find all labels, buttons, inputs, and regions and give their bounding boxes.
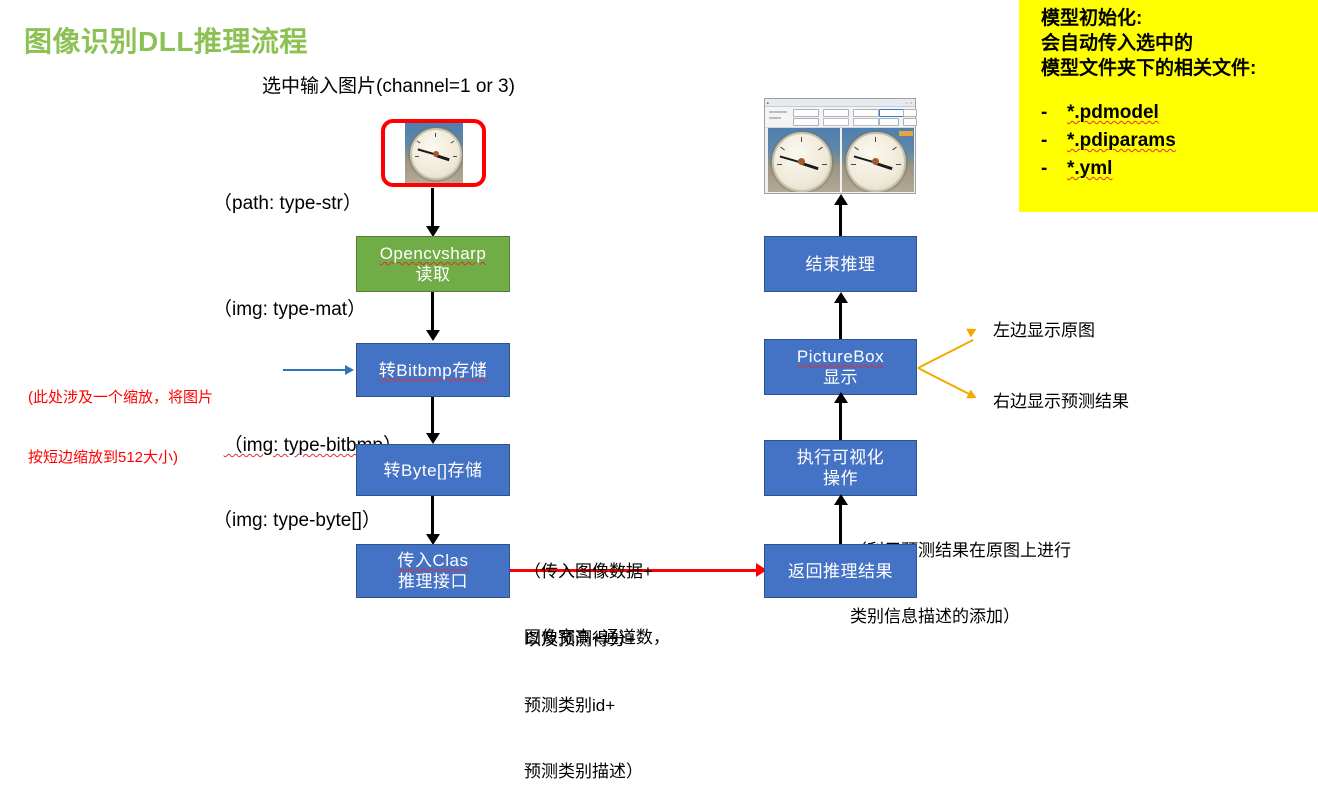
node-visualize-line1: 执行可视化 <box>797 447 885 468</box>
bullet-dash: - <box>1041 99 1067 127</box>
window-controls: - □ × <box>902 101 913 105</box>
arrowhead-down <box>426 433 440 444</box>
connector-bytearray-to-clas <box>431 496 434 538</box>
model-file-pdmodel: *.pdmodel <box>1067 99 1159 127</box>
branch-line-bottom <box>918 367 974 397</box>
list-item: - *.pdiparams <box>1041 127 1318 155</box>
original-image-pane <box>768 128 840 192</box>
node-end-inference[interactable]: 结束推理 <box>764 236 917 292</box>
connector-bitmap-to-bytearray <box>431 397 434 437</box>
edge-label-img-type-mat: （img: type-mat） <box>213 298 366 322</box>
node-picturebox-display[interactable]: PictureBox 显示 <box>764 339 917 395</box>
app-toolbar <box>765 107 915 128</box>
model-file-list: - *.pdmodel - *.pdiparams - *.yml <box>1041 99 1318 183</box>
page-title: 图像识别DLL推理流程 <box>24 20 308 60</box>
node-picturebox-line2: 显示 <box>797 367 884 388</box>
node-opencvsharp-line1: Opencvsharp <box>380 243 487 264</box>
scale-note: (此处涉及一个缩放，将图片 按短边缩放到512大小) <box>28 348 213 488</box>
result-app-window-screenshot: ■ - □ × <box>764 98 916 194</box>
node-clas-line2: 推理接口 <box>397 571 468 592</box>
scale-note-line-1: (此处涉及一个缩放，将图片 <box>28 388 213 408</box>
list-item: - *.pdmodel <box>1041 99 1318 127</box>
app-titlebar: ■ - □ × <box>765 99 915 107</box>
node-visualize-line2: 操作 <box>797 468 885 489</box>
branch-label-prediction: 右边显示预测结果 <box>993 391 1129 413</box>
node-to-bitmap[interactable]: 转Bitbmp存储 <box>356 343 510 397</box>
api-note-line-5: 预测类别描述） <box>524 761 643 783</box>
node-return-result-label: 返回推理结果 <box>788 561 893 582</box>
node-picturebox-line1: PictureBox <box>797 346 884 367</box>
input-image-thumbnail <box>381 119 486 187</box>
node-return-result[interactable]: 返回推理结果 <box>764 544 917 598</box>
api-note-lower: 以及预测得分+ 预测类别id+ 预测类别描述） <box>524 585 643 805</box>
arrowhead-up <box>834 292 848 303</box>
connector-opencvsharp-to-bitmap <box>431 292 434 332</box>
node-end-inference-label: 结束推理 <box>806 254 876 275</box>
api-note-line-3: 以及预测得分+ <box>524 629 643 651</box>
model-init-heading-line-3: 模型文件夹下的相关文件: <box>1041 56 1318 81</box>
api-note-line-1: （传入图像数据+ <box>524 561 670 583</box>
node-visualize[interactable]: 执行可视化 操作 <box>764 440 917 496</box>
api-note-line-4: 预测类别id+ <box>524 695 643 717</box>
node-clas-inference-api[interactable]: 传入Clas 推理接口 <box>356 544 510 598</box>
connector-visualize-to-picturebox <box>839 400 842 440</box>
model-file-yml: *.yml <box>1067 155 1112 183</box>
arrowhead-right <box>966 325 979 338</box>
connector-endinfer-to-app <box>839 205 842 237</box>
node-clas-line1: 传入Clas <box>397 550 468 571</box>
node-to-bytearray[interactable]: 转Byte[]存储 <box>356 444 510 496</box>
predicted-image-pane <box>842 128 914 192</box>
connector-input-to-opencvsharp <box>431 188 434 228</box>
connector-scale-note <box>283 369 345 371</box>
node-to-bitmap-label: 转Bitbmp存储 <box>379 360 487 381</box>
bullet-dash: - <box>1041 155 1067 183</box>
visualize-note-line-2: 类别信息描述的添加） <box>850 606 1071 628</box>
list-item: - *.yml <box>1041 155 1318 183</box>
arrowhead-down <box>426 330 440 341</box>
app-window-title: ■ <box>767 101 769 105</box>
arrowhead-up <box>834 194 848 205</box>
node-to-bytearray-label: 转Byte[]存储 <box>384 460 483 481</box>
node-opencvsharp-line2: 读取 <box>380 264 487 285</box>
branch-line-top <box>918 339 974 369</box>
connector-return-to-visualize <box>839 502 842 544</box>
branch-label-original: 左边显示原图 <box>993 320 1095 342</box>
model-init-callout: 模型初始化: 会自动传入选中的 模型文件夹下的相关文件: - *.pdmodel… <box>1019 0 1318 212</box>
app-image-canvas <box>768 128 914 192</box>
input-image-caption: 选中输入图片(channel=1 or 3) <box>262 75 515 99</box>
edge-label-img-type-bytearray: （img: type-byte[]） <box>213 509 381 533</box>
arrowhead-up <box>834 494 848 505</box>
model-file-pdiparams: *.pdiparams <box>1067 127 1176 155</box>
arrowhead-right <box>345 365 354 375</box>
model-init-heading-line-2: 会自动传入选中的 <box>1041 31 1318 56</box>
connector-picturebox-to-endinfer <box>839 300 842 340</box>
edge-label-path-type-str: （path: type-str） <box>213 192 362 216</box>
model-init-heading-line-1: 模型初始化: <box>1041 6 1318 31</box>
bullet-dash: - <box>1041 127 1067 155</box>
arrowhead-up <box>834 392 848 403</box>
node-opencvsharp-read[interactable]: Opencvsharp 读取 <box>356 236 510 292</box>
gauge-photo <box>405 123 463 183</box>
scale-note-line-2: 按短边缩放到512大小) <box>28 448 213 468</box>
